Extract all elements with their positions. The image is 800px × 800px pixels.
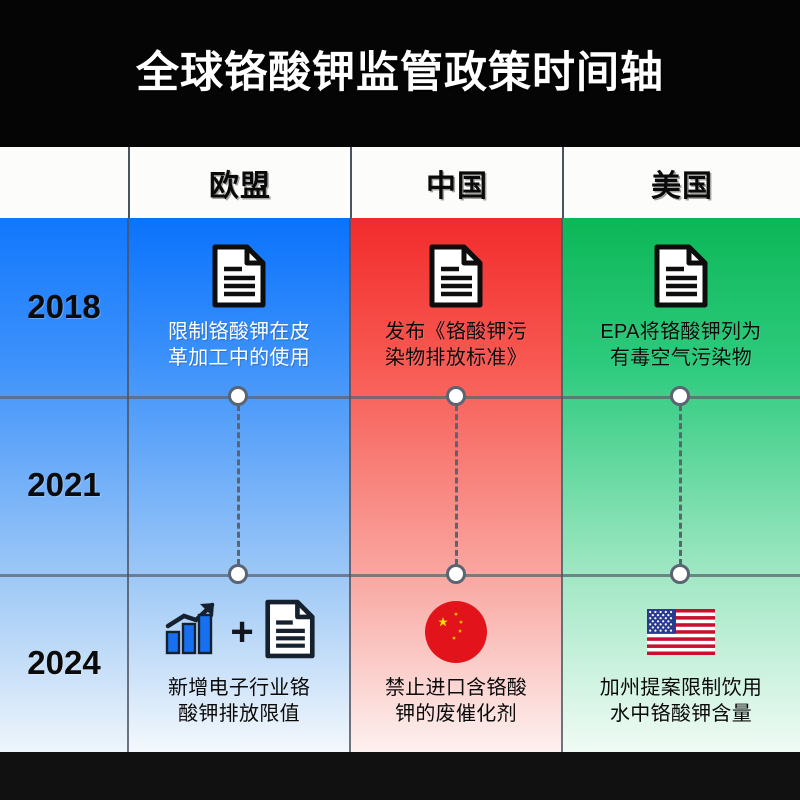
year-label: 2024 bbox=[27, 644, 100, 682]
document-icon bbox=[428, 243, 484, 309]
header-label-us: 美国 bbox=[651, 161, 713, 205]
cell-text: 发布《铬酸钾污 染物排放标准》 bbox=[385, 319, 527, 372]
document-icon bbox=[211, 243, 267, 309]
year-label: 2021 bbox=[27, 466, 100, 504]
header-cell-cn: 中国 bbox=[350, 147, 562, 218]
cell-text: 加州提案限制饮用 水中铬酸钾含量 bbox=[600, 675, 762, 728]
cell-eu-2018: 限制铬酸钾在皮 革加工中的使用 bbox=[128, 218, 350, 396]
year-label: 2018 bbox=[27, 288, 100, 326]
table-row: 2024 bbox=[0, 574, 128, 752]
usa-flag-icon bbox=[647, 599, 715, 665]
header-label-cn: 中国 bbox=[426, 161, 488, 205]
icon-group-chart-plus-document: + bbox=[162, 599, 315, 665]
table-header-row: 欧盟 中国 美国 bbox=[0, 147, 800, 218]
cell-cn-2024: 禁止进口含铬酸 钾的废催化剂 bbox=[350, 574, 562, 752]
table-row: 2021 bbox=[0, 396, 128, 574]
bottom-bar bbox=[0, 752, 800, 800]
infographic-root: 全球铬酸钾监管政策时间轴 欧盟 中国 美国 bbox=[0, 0, 800, 800]
timeline-table: 欧盟 中国 美国 2018 bbox=[0, 147, 800, 752]
cell-text: EPA将铬酸钾列为 有毒空气污染物 bbox=[600, 319, 761, 372]
cell-text: 禁止进口含铬酸 钾的废催化剂 bbox=[385, 675, 527, 728]
document-icon bbox=[653, 243, 709, 309]
china-flag-icon bbox=[425, 599, 487, 665]
page-title: 全球铬酸钾监管政策时间轴 bbox=[136, 52, 664, 95]
header-label-eu: 欧盟 bbox=[209, 161, 271, 205]
table-body: 2018 限制铬酸钾在皮 革加工中的使用 bbox=[0, 218, 800, 752]
cell-eu-2024: + 新增电子行 bbox=[128, 574, 350, 752]
header-cell-us: 美国 bbox=[562, 147, 800, 218]
timeline-connector-eu bbox=[237, 396, 243, 574]
title-bar: 全球铬酸钾监管政策时间轴 bbox=[0, 0, 800, 147]
timeline-connector-cn bbox=[455, 396, 461, 574]
cell-cn-2018: 发布《铬酸钾污 染物排放标准》 bbox=[350, 218, 562, 396]
cell-us-2024: 加州提案限制饮用 水中铬酸钾含量 bbox=[562, 574, 800, 752]
timeline-node[interactable] bbox=[446, 386, 466, 406]
table-row: 2018 bbox=[0, 218, 128, 396]
cell-text: 新增电子行业铬 酸钾排放限值 bbox=[168, 675, 310, 728]
document-icon bbox=[264, 599, 316, 664]
cell-us-2018: EPA将铬酸钾列为 有毒空气污染物 bbox=[562, 218, 800, 396]
cell-text: 限制铬酸钾在皮 革加工中的使用 bbox=[168, 319, 310, 372]
plus-icon: + bbox=[230, 612, 253, 652]
timeline-node[interactable] bbox=[228, 386, 248, 406]
timeline-connector-us bbox=[679, 396, 685, 574]
bar-chart-growth-icon bbox=[162, 600, 220, 663]
timeline-node[interactable] bbox=[670, 386, 690, 406]
header-cell-year bbox=[0, 147, 128, 218]
header-cell-eu: 欧盟 bbox=[128, 147, 350, 218]
